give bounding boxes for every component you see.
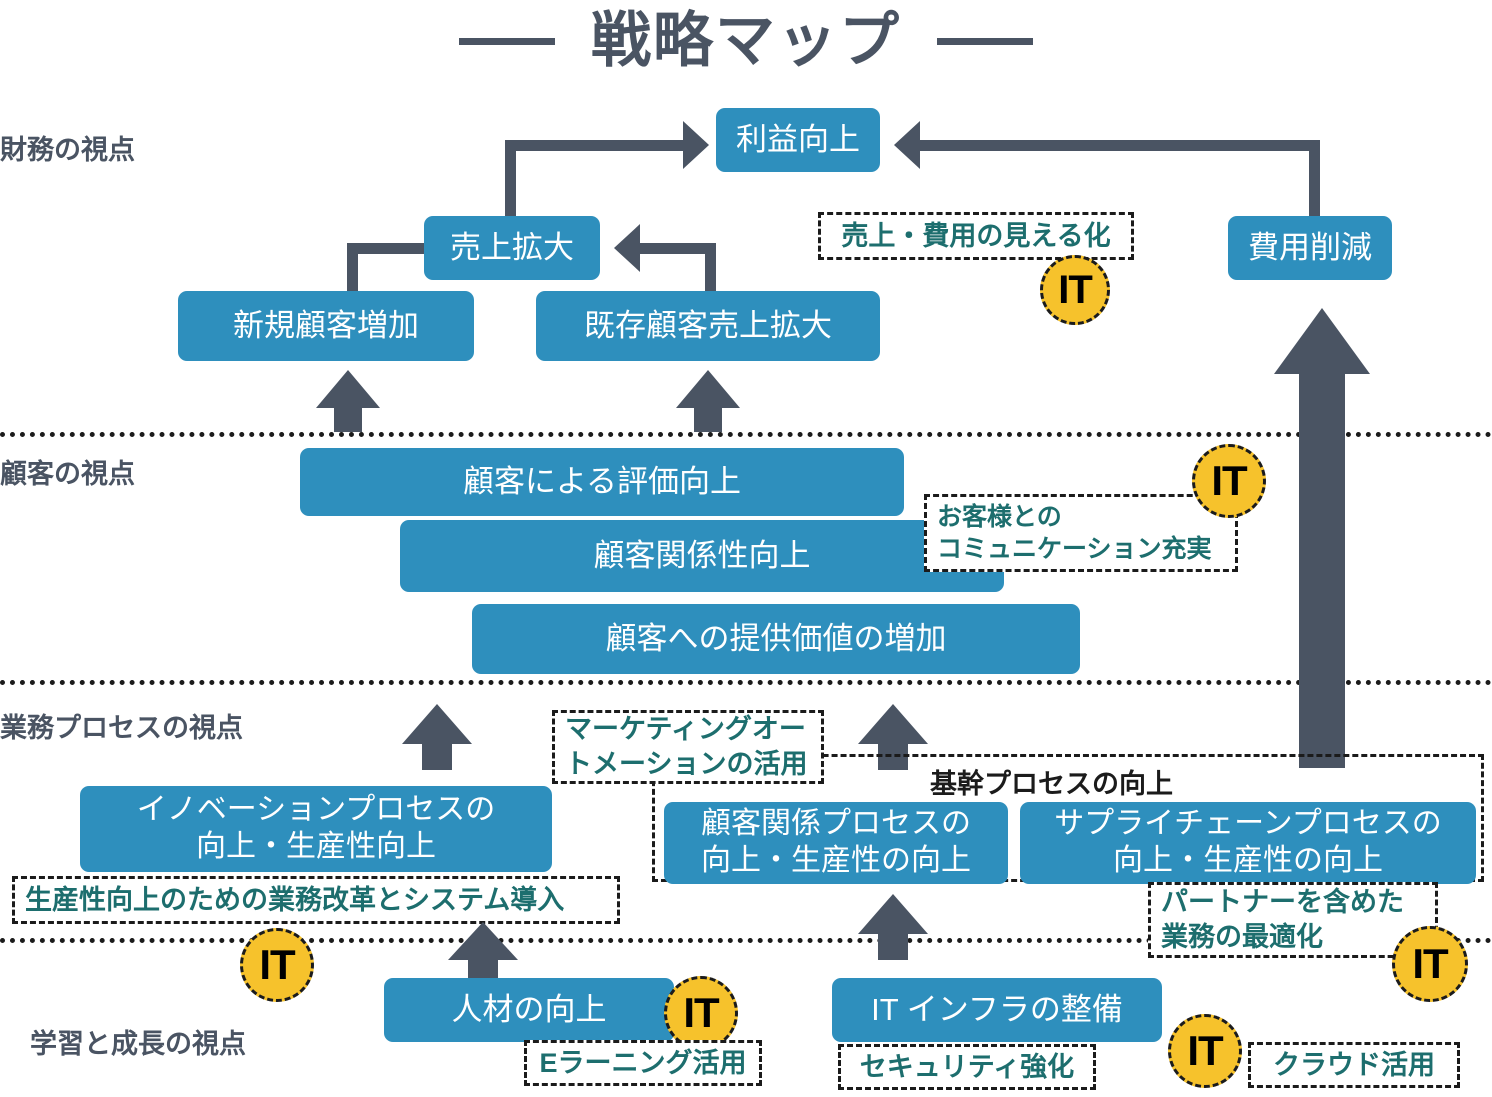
annotation-security[interactable]: セキュリティ強化: [838, 1044, 1096, 1090]
box-it-infrastructure[interactable]: IT インフラの整備: [832, 978, 1162, 1042]
group-core-process-label: 基幹プロセスの向上: [924, 762, 1179, 801]
annotation-customer-communication[interactable]: お客様との コミュニケーション充実: [924, 494, 1238, 572]
annotation-visualize-sales-cost[interactable]: 売上・費用の見える化: [818, 212, 1134, 260]
annotation-marketing-automation[interactable]: マーケティングオー トメーションの活用: [552, 710, 824, 784]
perspective-label-customer: 顧客の視点: [0, 452, 135, 491]
annotation-partner-optimization[interactable]: パートナーを含めた 業務の最適化: [1148, 882, 1438, 958]
perspective-label-financial: 財務の視点: [0, 128, 135, 167]
box-customer-value[interactable]: 顧客への提供価値の増加: [472, 604, 1080, 674]
perspective-label-process: 業務プロセスの視点: [0, 706, 243, 745]
arrow-up-to-existing-customer-sales: [676, 370, 740, 432]
page-title: 戦略マップ: [0, 2, 1492, 80]
it-badge-customer-communication[interactable]: IT: [1192, 444, 1266, 518]
box-customer-relationship[interactable]: 顧客関係性向上: [400, 520, 1004, 592]
it-badge-cloud[interactable]: IT: [1168, 1014, 1242, 1088]
connector-cost-to-profit-vertical: [1309, 140, 1320, 218]
annotation-e-learning[interactable]: Eラーニング活用: [524, 1040, 762, 1086]
connector-existcust-to-sales-arrowhead: [614, 224, 640, 272]
it-badge-visualize-sales-cost[interactable]: IT: [1040, 255, 1110, 325]
title-text: 戦略マップ: [591, 11, 901, 71]
title-right-dash: [937, 38, 1033, 45]
strategy-map-canvas: 戦略マップ 財務の視点 顧客の視点 業務プロセスの視点 学習と成長の視点 利益向…: [0, 0, 1492, 1097]
box-existing-customer-sales[interactable]: 既存顧客売上拡大: [536, 291, 880, 361]
divider-customer-process: [0, 680, 1492, 685]
it-badge-partner-optimization[interactable]: IT: [1392, 926, 1468, 1002]
arrow-up-to-customer-value-left: [402, 704, 472, 770]
connector-newcust-to-sales-horizontal: [347, 243, 427, 254]
box-profit[interactable]: 利益向上: [716, 108, 880, 172]
box-new-customers[interactable]: 新規顧客増加: [178, 291, 474, 361]
connector-cost-to-profit-arrowhead: [894, 121, 920, 169]
arrow-up-to-new-customers: [316, 370, 380, 432]
annotation-productivity-reform[interactable]: 生産性向上のための業務改革とシステム導入: [12, 876, 620, 924]
box-cost-reduction[interactable]: 費用削減: [1228, 216, 1392, 280]
arrow-up-to-customer-relation-process: [858, 894, 928, 960]
connector-sales-to-profit-arrowhead: [683, 121, 709, 169]
title-left-dash: [459, 38, 555, 45]
annotation-cloud[interactable]: クラウド活用: [1248, 1042, 1460, 1088]
arrow-up-to-innovation-process: [448, 922, 518, 984]
box-sales-expansion[interactable]: 売上拡大: [424, 216, 600, 280]
box-customer-evaluation[interactable]: 顧客による評価向上: [300, 448, 904, 516]
connector-sales-to-profit-horizontal: [505, 140, 685, 151]
perspective-label-learning: 学習と成長の視点: [30, 1022, 246, 1061]
box-customer-relation-process[interactable]: 顧客関係プロセスの 向上・生産性の向上: [664, 802, 1008, 884]
connector-existcust-to-sales-vertical: [705, 243, 716, 293]
connector-cost-to-profit-horizontal: [920, 140, 1320, 151]
it-badge-productivity-reform[interactable]: IT: [240, 928, 314, 1002]
box-innovation-process[interactable]: イノベーションプロセスの 向上・生産性向上: [80, 786, 552, 872]
arrow-up-to-cost-reduction: [1274, 308, 1370, 768]
divider-financial-customer: [0, 432, 1492, 437]
it-badge-human-resources[interactable]: IT: [664, 976, 738, 1050]
connector-newcust-to-sales-vertical: [347, 243, 358, 293]
box-supply-chain-process[interactable]: サプライチェーンプロセスの 向上・生産性の向上: [1020, 802, 1476, 884]
box-human-resources[interactable]: 人材の向上: [384, 978, 674, 1042]
